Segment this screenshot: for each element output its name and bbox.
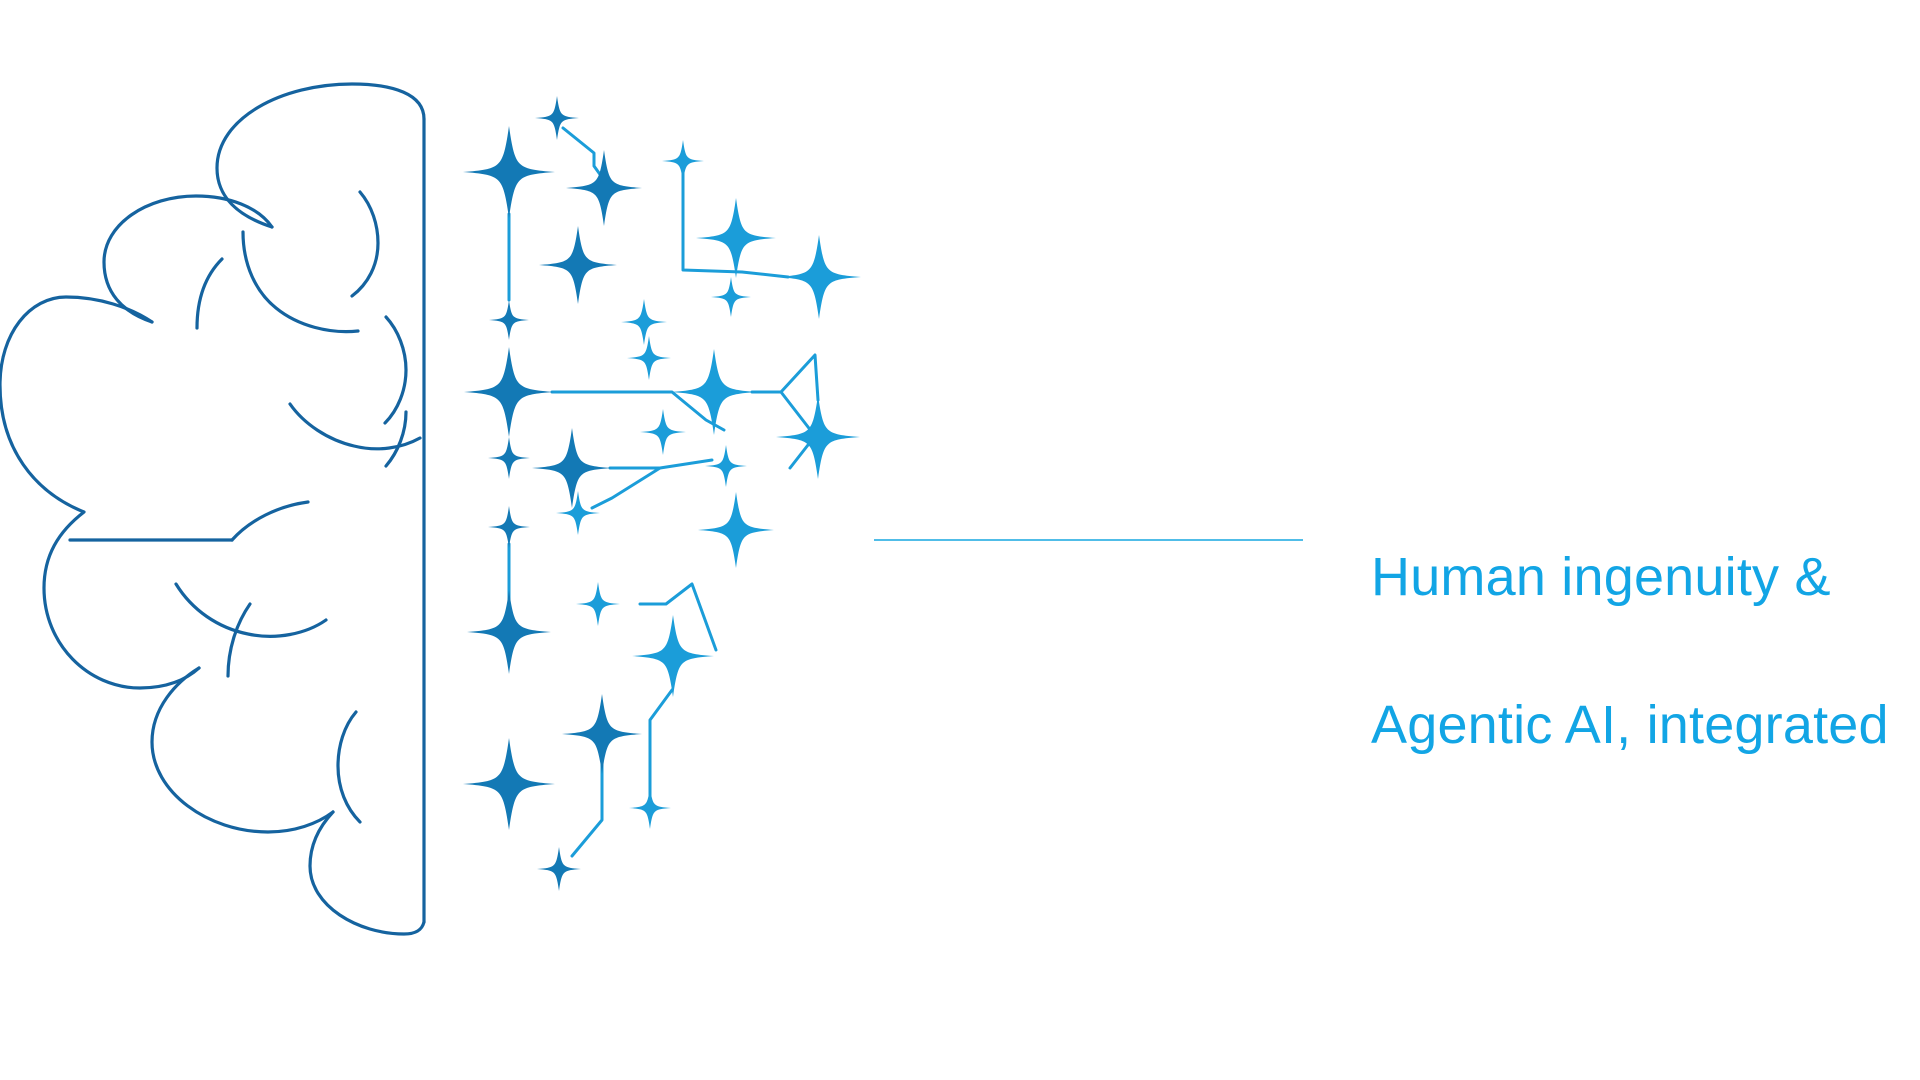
network-node-star bbox=[621, 299, 667, 345]
network-edges-group bbox=[509, 128, 818, 856]
brain-lobe-lower-left bbox=[152, 668, 333, 832]
brain-outline-group bbox=[0, 84, 424, 934]
network-node-star bbox=[632, 615, 714, 697]
network-node-star bbox=[711, 277, 751, 317]
network-node-star bbox=[489, 300, 529, 340]
network-node-star bbox=[539, 226, 617, 304]
brain-fold-3 bbox=[197, 259, 222, 328]
edge-n26-n28 bbox=[572, 760, 602, 856]
network-node-star bbox=[464, 347, 554, 437]
edge-n23-n24 bbox=[640, 584, 716, 650]
network-node-star bbox=[535, 96, 579, 140]
network-node-star bbox=[488, 506, 530, 548]
brain-fold-2 bbox=[243, 232, 358, 332]
brain-fold-1 bbox=[352, 192, 378, 296]
network-node-star bbox=[566, 150, 642, 226]
edge-n19-n20 bbox=[660, 460, 712, 468]
network-node-star bbox=[627, 336, 671, 380]
network-node-star bbox=[696, 198, 776, 278]
network-node-star bbox=[463, 126, 555, 218]
network-node-star bbox=[777, 235, 861, 319]
network-node-star bbox=[576, 582, 620, 626]
tagline-line-2: Agentic AI, integrated bbox=[1371, 688, 1891, 762]
edge-n11-n12 bbox=[552, 392, 724, 430]
edge-n27-n24 bbox=[650, 690, 672, 796]
network-node-star bbox=[662, 140, 704, 182]
network-node-star bbox=[463, 738, 555, 830]
network-node-star bbox=[776, 395, 860, 479]
edge-n13-n16 bbox=[752, 355, 818, 400]
brain-lobe-mid-left bbox=[0, 297, 199, 688]
network-node-star bbox=[640, 409, 686, 455]
network-node-star bbox=[629, 787, 671, 829]
network-node-star bbox=[556, 491, 600, 535]
network-node-star bbox=[698, 492, 774, 568]
network-node-star bbox=[705, 445, 747, 487]
brain-fold-8 bbox=[338, 712, 360, 822]
illustration-stage: Human ingenuity & Agentic AI, integrated bbox=[0, 0, 1920, 1080]
network-node-star bbox=[488, 437, 530, 479]
network-nodes-group bbox=[463, 96, 861, 891]
brain-fold-6 bbox=[176, 584, 326, 636]
network-node-star bbox=[532, 428, 612, 508]
network-node-star bbox=[671, 349, 757, 435]
tagline-line-1: Human ingenuity & bbox=[1371, 540, 1891, 614]
edge-n19-n18 bbox=[592, 468, 660, 508]
brain-fold-7 bbox=[228, 604, 250, 676]
tagline: Human ingenuity & Agentic AI, integrated bbox=[1371, 466, 1891, 836]
network-node-star bbox=[562, 694, 642, 774]
brain-fold-4 bbox=[385, 317, 406, 423]
brain-lobe-bottom bbox=[310, 812, 424, 934]
edge-n1-n3 bbox=[563, 128, 604, 180]
network-node-star bbox=[467, 590, 551, 674]
brain-fold-10 bbox=[232, 502, 308, 540]
